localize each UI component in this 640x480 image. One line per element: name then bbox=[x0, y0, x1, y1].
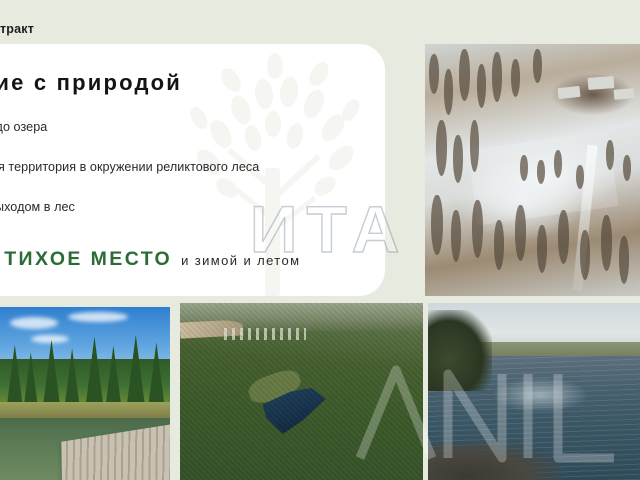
river-near-shore bbox=[428, 441, 559, 480]
screenshot-stage: анский тракт bbox=[0, 0, 640, 480]
river-shore-photo[interactable] bbox=[428, 303, 640, 480]
tagline-suffix: и зимой и летом bbox=[181, 253, 300, 268]
bullet-line-2: вописная территория в окружении реликтов… bbox=[0, 160, 259, 174]
page-title: нение с природой bbox=[0, 70, 182, 96]
forest-aerial-photo[interactable] bbox=[180, 303, 423, 480]
top-address-label: анский тракт bbox=[0, 22, 312, 36]
river-glint bbox=[492, 377, 590, 412]
tagline-highlight: ТИХОЕ МЕСТО bbox=[4, 248, 172, 271]
winter-house-2 bbox=[588, 76, 615, 90]
winter-house-1 bbox=[558, 86, 581, 99]
info-card: нение с природой метров до озера вописна… bbox=[0, 44, 385, 296]
lake-dock-photo[interactable] bbox=[0, 307, 170, 480]
aerial-texture bbox=[180, 303, 423, 480]
river-tree bbox=[428, 310, 492, 391]
tagline: оящему ТИХОЕ МЕСТО и зимой и летом bbox=[0, 248, 300, 271]
dock-forest-band bbox=[0, 359, 170, 407]
info-card-inner: нение с природой метров до озера вописна… bbox=[0, 44, 385, 296]
winter-aerial-photo[interactable] bbox=[425, 44, 640, 296]
bullet-line-3: стки с выходом в лес bbox=[0, 200, 75, 214]
bullet-line-1: метров до озера bbox=[0, 120, 47, 134]
